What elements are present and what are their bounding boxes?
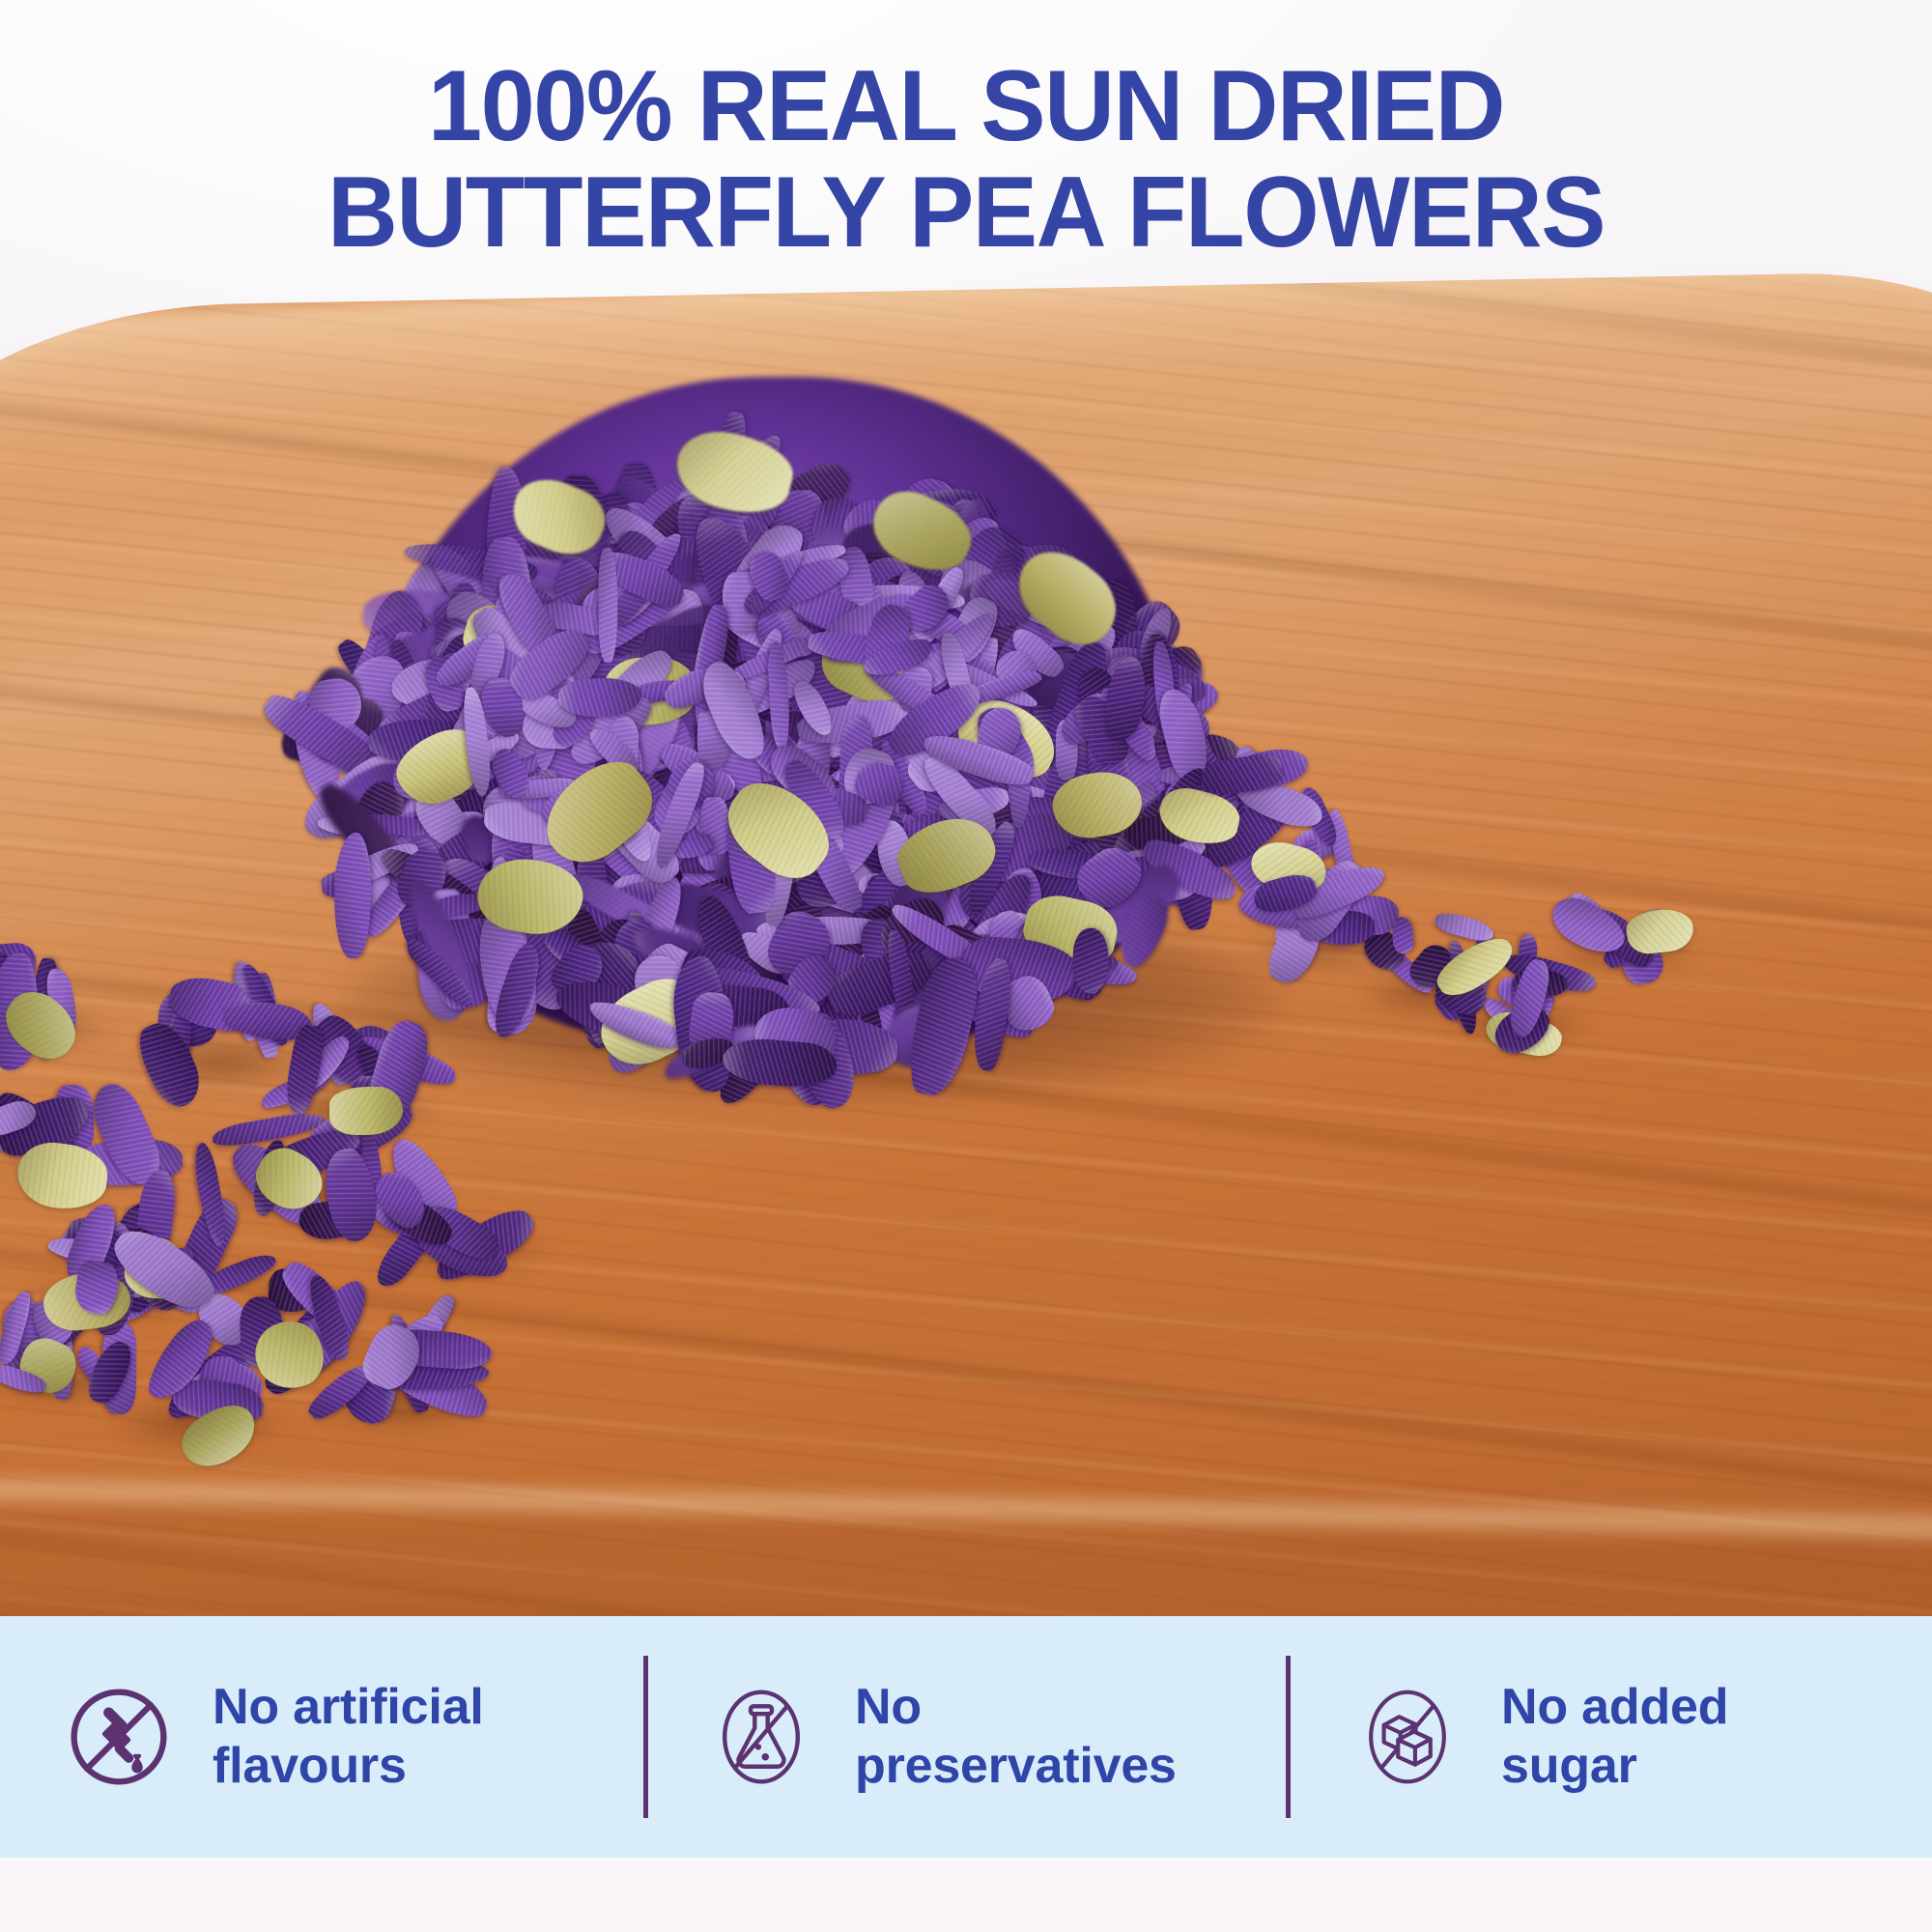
product-photo xyxy=(0,0,1932,1618)
no-sugar-cubes-icon xyxy=(1349,1678,1466,1796)
badge-label: No artificial flavours xyxy=(213,1678,484,1796)
flower-petal xyxy=(1392,917,1414,954)
badge-label: No added sugar xyxy=(1501,1678,1728,1796)
badge-no-added-sugar: No added sugar xyxy=(1291,1616,1932,1858)
badge-label-line-2: flavours xyxy=(213,1737,484,1796)
badge-label-line-1: No added xyxy=(1501,1679,1728,1735)
badge-no-preservatives: No preservatives xyxy=(648,1616,1286,1858)
badge-label-line-2: sugar xyxy=(1501,1737,1728,1796)
badge-label-line-2: preservatives xyxy=(855,1737,1177,1796)
badge-label-line-1: No artificial xyxy=(213,1679,484,1735)
feature-banner: No artificial flavours No preservatives xyxy=(0,1616,1932,1858)
product-image-canvas: 100% REAL SUN DRIED BUTTERFLY PEA FLOWER… xyxy=(0,0,1932,1932)
flower-calyx xyxy=(329,1086,403,1134)
flower-petal xyxy=(1433,909,1495,944)
badge-no-artificial-flavours: No artificial flavours xyxy=(0,1616,643,1858)
scattered-flowers-layer xyxy=(0,0,1932,1618)
no-dropper-icon xyxy=(60,1678,178,1796)
badge-label-line-1: No xyxy=(855,1679,922,1735)
badge-label: No preservatives xyxy=(855,1678,1177,1796)
bottom-strip xyxy=(0,1858,1932,1932)
no-flask-icon xyxy=(702,1678,820,1796)
